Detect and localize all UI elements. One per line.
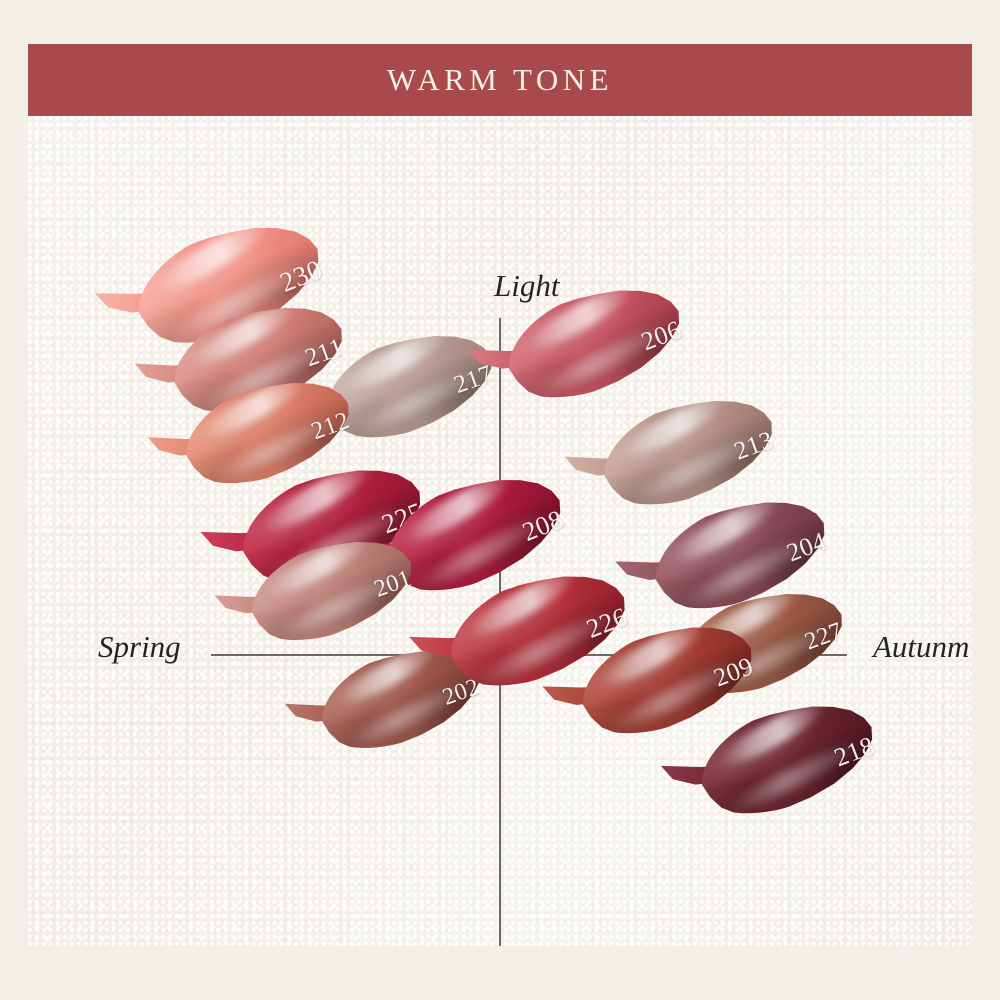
axis-label-autumn: Autunm (873, 629, 969, 665)
swatch-highlight-230 (152, 214, 273, 301)
header-band: WARM TONE (28, 44, 972, 116)
swatch-highlight-213 (618, 388, 731, 465)
axis-label-light: Light (494, 268, 559, 304)
swatch-lower-highlight-209 (603, 659, 736, 739)
swatch-highlight-217 (340, 323, 451, 399)
page-title: WARM TONE (387, 62, 613, 98)
swatch-lower-highlight-206 (530, 323, 664, 404)
swatch-lower-highlight-201 (271, 572, 396, 645)
chart-canvas: Light Dark Spring Autunm 230211217212225… (28, 116, 972, 946)
swatch-highlight-218 (715, 693, 829, 774)
lipstick-shade-chart: WARM TONE Light Dark Spring Autunm 23021… (0, 0, 1000, 1000)
swatch-lower-highlight-213 (625, 433, 757, 510)
swatch-lower-highlight-202 (341, 681, 465, 754)
swatch-lower-highlight-218 (723, 738, 857, 819)
axis-label-spring: Spring (98, 629, 181, 665)
